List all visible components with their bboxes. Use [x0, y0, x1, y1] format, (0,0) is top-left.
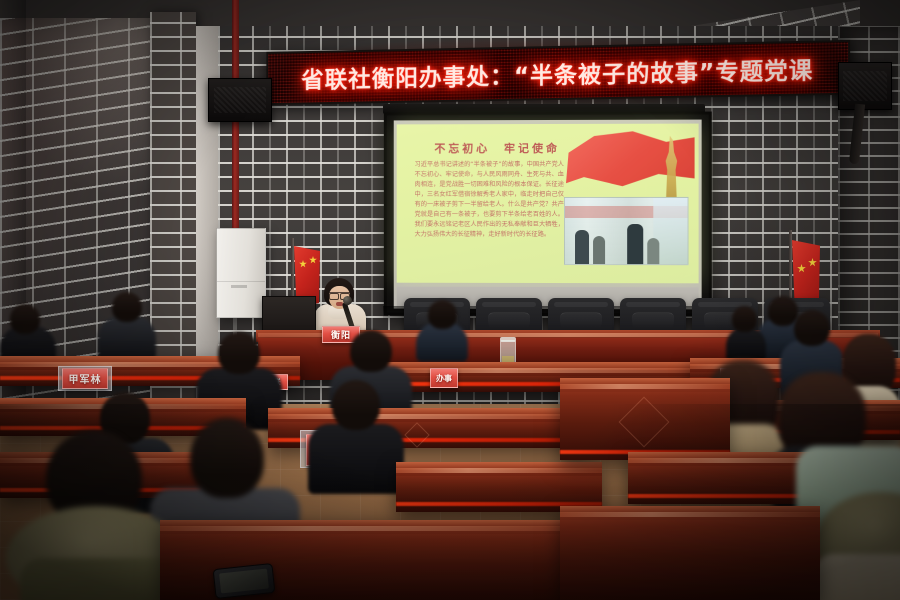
projection-screen: 不忘初心 牢记使命 习近平总书记讲述的“半条被子”的故事，中国共产党人不忘初心、… — [384, 112, 712, 317]
cup-lid — [500, 337, 516, 342]
led-banner: 省联社衡阳办事处：“半条被子的故事”专题党课 — [266, 40, 850, 105]
name-placard: 办事 — [430, 368, 458, 388]
speaker-box-left — [208, 78, 272, 122]
audience-head — [218, 332, 260, 374]
cabinet-brand-mark — [231, 285, 247, 288]
meeting-room-photo: 省联社衡阳办事处：“半条被子的故事”专题党课 不忘初心 牢记使命 习近平总书记讲… — [0, 0, 900, 600]
microphone-head-icon — [343, 296, 352, 305]
led-banner-text: 省联社衡阳办事处：“半条被子的故事”专题党课 — [301, 51, 813, 95]
slide-photo-person — [575, 230, 589, 264]
slide-photo-inset — [564, 197, 689, 265]
slide-photo-person — [627, 224, 643, 264]
name-placard: 甲军林 — [62, 368, 108, 389]
slide-body-text: 习近平总书记讲述的“半条被子”的故事，中国共产党人不忘初心、牢记使命，与人民风雨… — [415, 160, 564, 240]
cabinet-seam — [217, 281, 265, 282]
audience-head — [794, 310, 830, 346]
audience-head — [112, 292, 142, 322]
audience-member — [98, 292, 156, 358]
white-cabinet — [216, 228, 266, 318]
speaker-box-right — [838, 62, 892, 110]
audience-member — [726, 306, 766, 360]
floor-shading — [0, 404, 900, 600]
slide-photo-person — [647, 238, 659, 264]
slide-photo-person — [593, 236, 605, 264]
audience-torso — [98, 316, 156, 360]
audience-head — [428, 300, 457, 329]
slide-title: 不忘初心 牢记使命 — [434, 140, 560, 156]
audience-head — [10, 304, 40, 334]
audience-head — [732, 306, 757, 332]
presentation-slide: 不忘初心 牢记使命 习近平总书记讲述的“半条被子”的故事，中国共产党人不忘初心、… — [397, 124, 699, 284]
audience-head — [350, 330, 392, 372]
audience-member — [416, 300, 468, 360]
